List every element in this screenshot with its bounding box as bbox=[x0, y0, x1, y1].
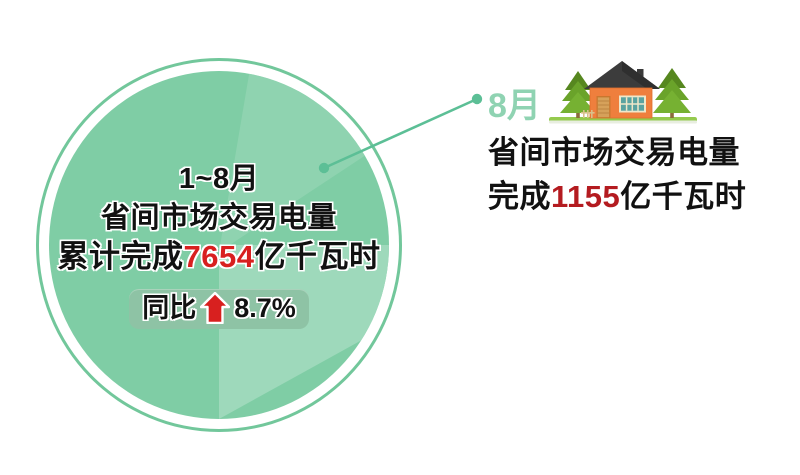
circle-value-unit: 亿千瓦时 bbox=[254, 239, 380, 274]
circle-value-prefix: 累计完成 bbox=[58, 239, 184, 274]
circle-period-label: 1~8月 bbox=[179, 161, 259, 197]
callout-header: 8月 bbox=[488, 55, 788, 127]
circle-value-number: 7654 bbox=[184, 239, 255, 274]
yoy-label: 同比 bbox=[142, 292, 196, 324]
callout-value-number: 1155 bbox=[551, 179, 620, 214]
yoy-change-value: 8.7% bbox=[234, 292, 296, 324]
total-value-circle: 1~8月 省间市场交易电量 累计完成7654亿千瓦时 同比 8.7% bbox=[36, 58, 402, 432]
callout-metric-label: 省间市场交易电量 bbox=[488, 131, 788, 175]
callout-value-unit: 亿千瓦时 bbox=[620, 179, 746, 214]
callout-month-label: 8月 bbox=[488, 87, 541, 125]
callout-value-line: 完成1155亿千瓦时 bbox=[488, 175, 788, 219]
house-and-trees-icon bbox=[547, 55, 699, 127]
infographic-canvas: 1~8月 省间市场交易电量 累计完成7654亿千瓦时 同比 8.7% 8月 bbox=[0, 0, 800, 475]
circle-value-line: 累计完成7654亿千瓦时 bbox=[58, 238, 381, 276]
yoy-change-badge: 同比 8.7% bbox=[129, 289, 309, 329]
august-callout: 8月 bbox=[488, 55, 788, 219]
circle-text-group: 1~8月 省间市场交易电量 累计完成7654亿千瓦时 同比 8.7% bbox=[36, 58, 402, 432]
circle-metric-label: 省间市场交易电量 bbox=[101, 200, 337, 236]
callout-value-prefix: 完成 bbox=[488, 179, 551, 214]
arrow-up-icon bbox=[200, 292, 230, 324]
